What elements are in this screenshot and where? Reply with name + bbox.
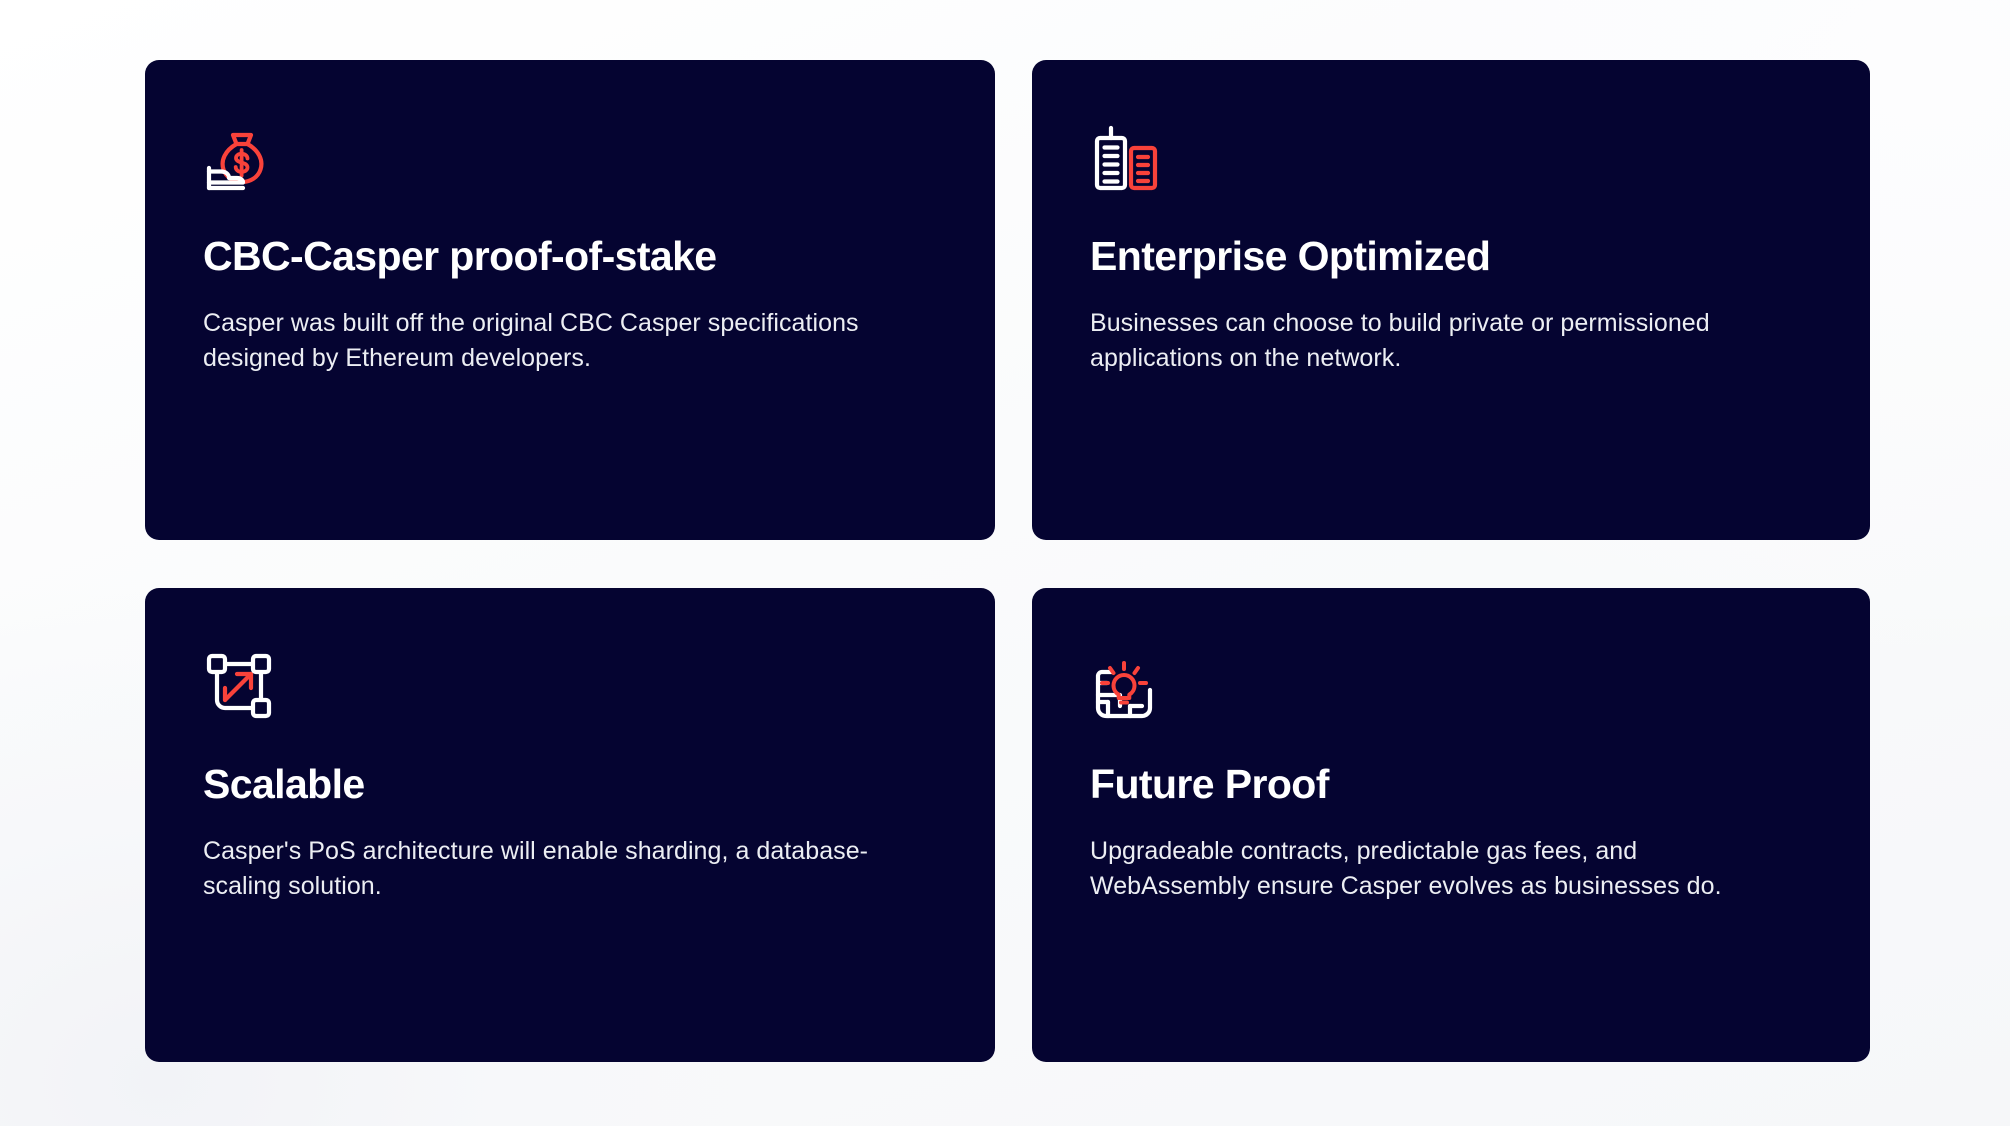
feature-cards-page: CBC-Casper proof-of-stake Casper was bui… (0, 0, 2010, 1126)
feature-card-cbc-casper-proof-of-stake[interactable]: CBC-Casper proof-of-stake Casper was bui… (145, 60, 995, 540)
feature-card-description: Casper was built off the original CBC Ca… (203, 306, 883, 377)
feature-card-description: Upgradeable contracts, predictable gas f… (1090, 834, 1770, 905)
feature-card-title: Future Proof (1090, 762, 1810, 808)
feature-card-title: CBC-Casper proof-of-stake (203, 234, 935, 280)
feature-cards-grid: CBC-Casper proof-of-stake Casper was bui… (145, 60, 1870, 1062)
feature-card-title: Scalable (203, 762, 935, 808)
office-buildings-icon (1090, 122, 1162, 194)
scale-arrow-icon (203, 650, 275, 722)
feature-card-scalable[interactable]: Scalable Casper's PoS architecture will … (145, 588, 995, 1062)
feature-card-future-proof[interactable]: Future Proof Upgradeable contracts, pred… (1032, 588, 1870, 1062)
feature-card-title: Enterprise Optimized (1090, 234, 1810, 280)
feature-card-description: Casper's PoS architecture will enable sh… (203, 834, 883, 905)
money-bag-icon (203, 122, 275, 194)
feature-card-enterprise-optimized[interactable]: Enterprise Optimized Businesses can choo… (1032, 60, 1870, 540)
lightbulb-circuit-icon (1090, 650, 1162, 722)
feature-card-description: Businesses can choose to build private o… (1090, 306, 1780, 377)
